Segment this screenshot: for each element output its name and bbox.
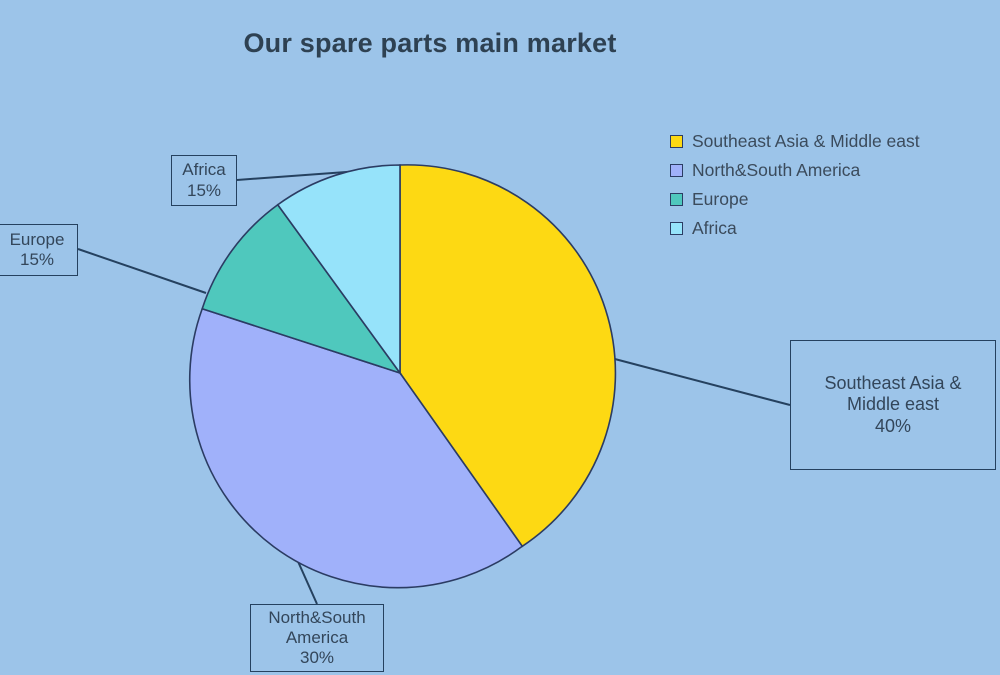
callout-label-line1: Europe [10, 230, 65, 250]
callout-north-south-america[interactable]: North&South America 30% [250, 604, 384, 672]
legend-swatch-icon [670, 135, 683, 148]
chart-canvas: Our spare parts main market Southeast As… [0, 0, 1000, 675]
legend-item-label: North&South America [692, 162, 860, 180]
callout-label-line2: Middle east [847, 394, 939, 415]
callout-percent: 15% [20, 250, 54, 270]
legend-swatch-icon [670, 222, 683, 235]
callout-label-line2: America [286, 628, 348, 648]
callout-percent: 30% [300, 648, 334, 668]
callout-label-line1: North&South [268, 608, 365, 628]
callout-africa[interactable]: Africa 15% [171, 155, 237, 206]
callout-percent: 15% [187, 181, 221, 201]
legend-item-southeast-asia[interactable]: Southeast Asia & Middle east [670, 127, 970, 156]
legend-item-label: Southeast Asia & Middle east [692, 133, 920, 151]
leader-line-southeast-asia [611, 358, 790, 405]
legend-item-label: Africa [692, 220, 737, 238]
callout-europe[interactable]: Europe 15% [0, 224, 78, 276]
leader-line-europe [78, 249, 206, 293]
legend-item-label: Europe [692, 191, 748, 209]
legend-item-europe[interactable]: Europe [670, 185, 970, 214]
legend-swatch-icon [670, 164, 683, 177]
legend-item-north-south-america[interactable]: North&South America [670, 156, 970, 185]
callout-southeast-asia[interactable]: Southeast Asia & Middle east 40% [790, 340, 996, 470]
callout-label-line1: Southeast Asia & [824, 373, 961, 394]
callout-percent: 40% [875, 416, 911, 437]
legend-item-africa[interactable]: Africa [670, 214, 970, 243]
legend-swatch-icon [670, 193, 683, 206]
callout-label-line1: Africa [182, 160, 225, 180]
legend: Southeast Asia & Middle east North&South… [670, 127, 970, 243]
pie-chart-graphic [0, 0, 1000, 675]
